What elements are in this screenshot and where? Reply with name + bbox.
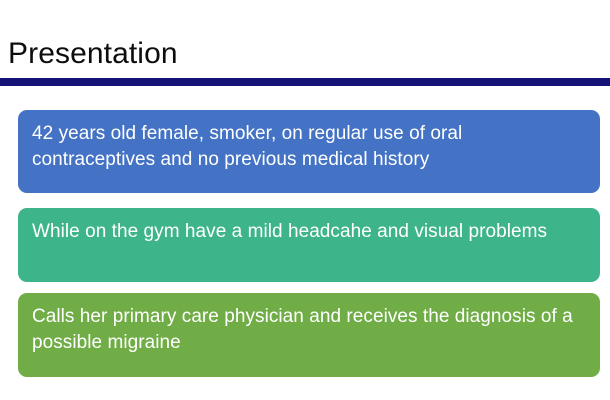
symptoms-box[interactable]: While on the gym have a mild headcahe an… [18, 208, 600, 282]
page-title: Presentation [8, 36, 178, 72]
presentation-slide: Presentation 42 years old female, smoker… [0, 0, 610, 400]
diagnosis-box[interactable]: Calls her primary care physician and rec… [18, 293, 600, 377]
title-divider-rule [0, 78, 610, 86]
patient-history-box[interactable]: 42 years old female, smoker, on regular … [18, 110, 600, 193]
symptoms-text: While on the gym have a mild headcahe an… [32, 219, 586, 245]
diagnosis-text: Calls her primary care physician and rec… [32, 304, 586, 356]
patient-history-text: 42 years old female, smoker, on regular … [32, 121, 586, 173]
